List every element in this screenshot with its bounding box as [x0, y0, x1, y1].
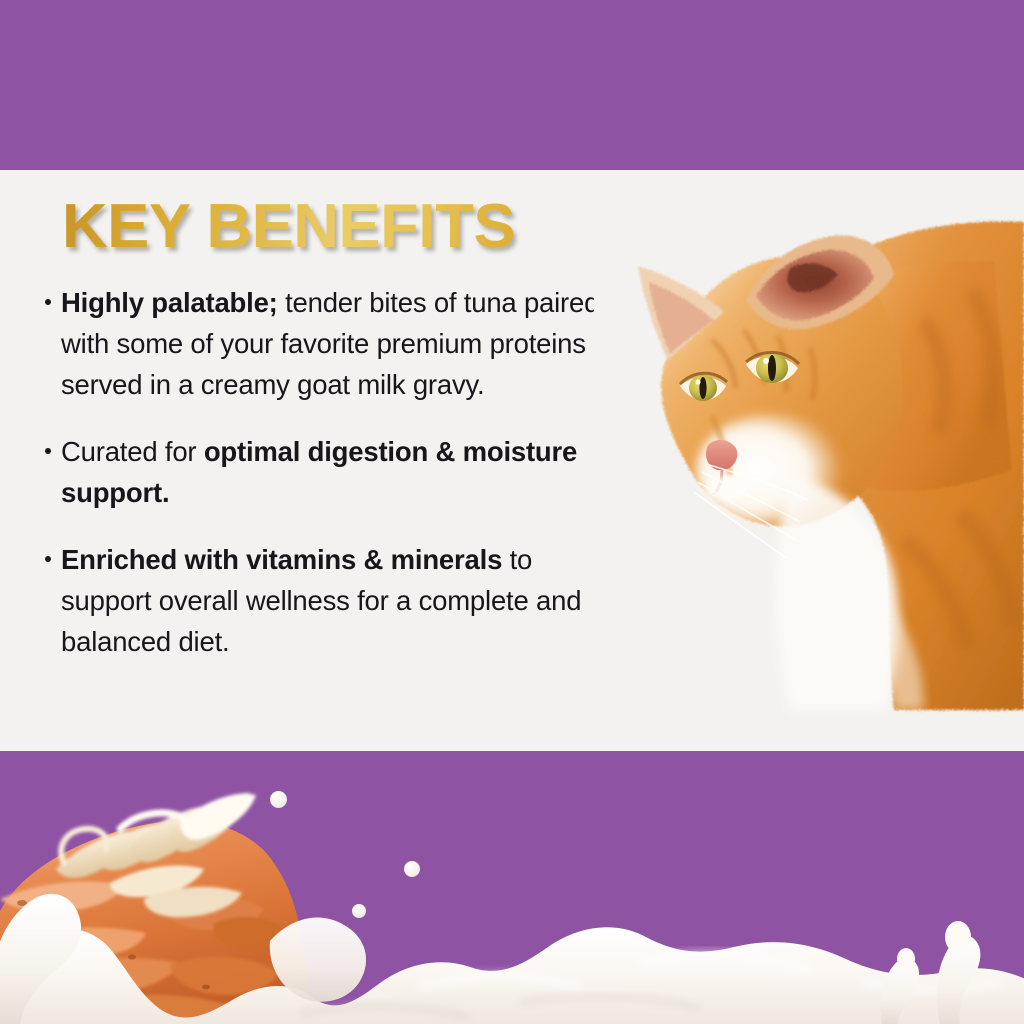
bullet-dot-icon	[45, 556, 51, 562]
top-purple-band	[0, 0, 1024, 170]
splash-illustration	[0, 751, 1024, 1024]
benefit-lead: Curated for	[61, 436, 204, 467]
benefits-list: Highly palatable; tender bites of tuna p…	[44, 282, 604, 662]
milk-droplet	[404, 861, 420, 877]
benefit-text: Highly palatable; tender bites of tuna p…	[44, 282, 604, 405]
milk-splash-and-food	[0, 751, 1024, 1024]
benefit-lead-bold: Enriched with vitamins & minerals	[61, 544, 502, 575]
bullet-dot-icon	[45, 448, 51, 454]
benefit-text: Curated for optimal digestion & moisture…	[44, 431, 604, 513]
list-item: Curated for optimal digestion & moisture…	[44, 431, 604, 513]
page-title: KEY BENEFITS	[62, 196, 515, 258]
list-item: Enriched with vitamins & minerals to sup…	[44, 539, 604, 662]
bullet-dot-icon	[45, 299, 51, 305]
promo-card: KEY BENEFITS Highly palatable; tender bi…	[0, 0, 1024, 1024]
content-panel: KEY BENEFITS Highly palatable; tender bi…	[0, 170, 1024, 751]
benefit-lead-bold: Highly palatable;	[61, 287, 278, 318]
list-item: Highly palatable; tender bites of tuna p…	[44, 282, 604, 405]
milk-droplet	[270, 791, 287, 808]
benefit-text: Enriched with vitamins & minerals to sup…	[44, 539, 604, 662]
milk-droplet	[352, 904, 366, 918]
